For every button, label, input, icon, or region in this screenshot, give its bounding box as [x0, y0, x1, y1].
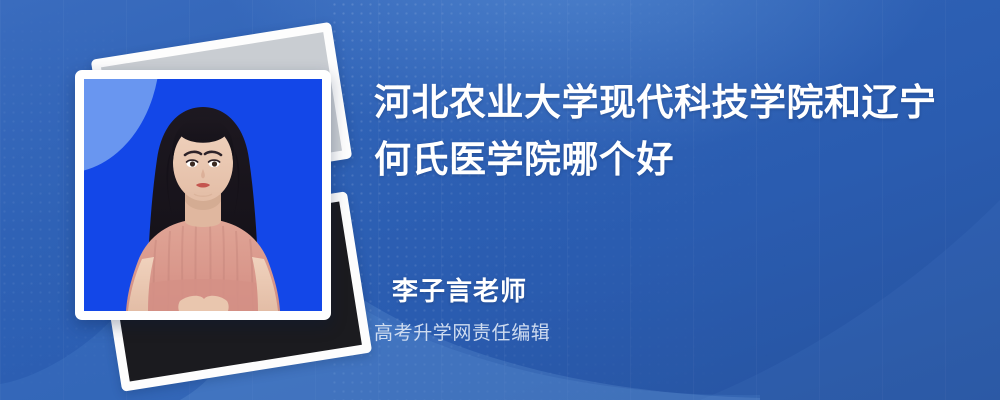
author-name: 李子言老师 [392, 271, 527, 308]
author-avatar [75, 70, 331, 320]
article-cover-banner: 河北农业大学现代科技学院和辽宁何氏医学院哪个好 李子言老师 高考升学网责任编辑 [0, 0, 1000, 400]
page-title: 河北农业大学现代科技学院和辽宁何氏医学院哪个好 [374, 74, 969, 188]
photo-stack-icon [48, 30, 348, 360]
cover-text-column: 河北农业大学现代科技学院和辽宁何氏医学院哪个好 李子言老师 高考升学网责任编辑 [374, 0, 974, 400]
author-role: 高考升学网责任编辑 [374, 318, 550, 345]
portrait-photo-icon [84, 79, 322, 311]
